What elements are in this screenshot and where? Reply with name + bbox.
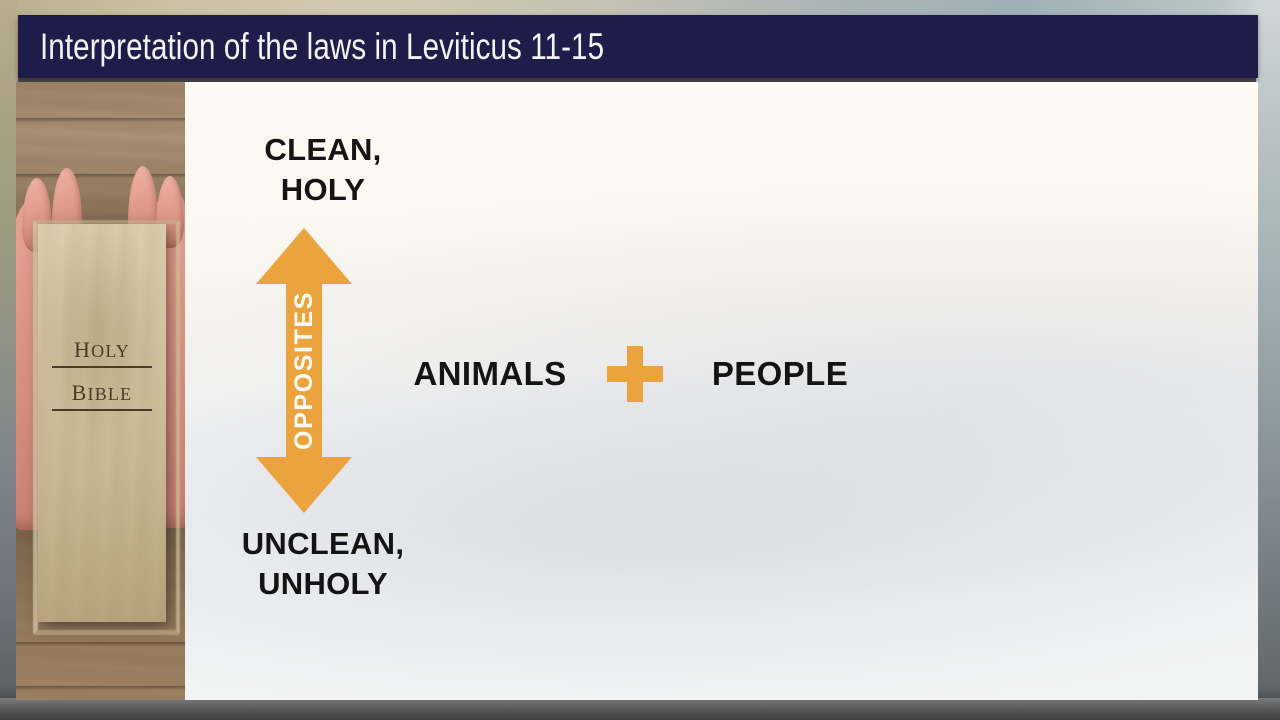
- bible-photo: Holy Bible: [16, 82, 185, 700]
- bible-title-line-1: Holy: [52, 330, 152, 368]
- diagram-area: CLEAN, HOLY OPPOSITES ANIMALS: [185, 82, 1258, 700]
- animals-people-equation: ANIMALS PEOPLE: [385, 336, 885, 412]
- label-unclean-unholy: UNCLEAN, UNHOLY: [193, 524, 453, 605]
- label-clean-holy-line-2: HOLY: [193, 170, 453, 210]
- label-unclean-unholy-line-1: UNCLEAN,: [193, 524, 453, 564]
- slide-root: Interpretation of the laws in Leviticus …: [0, 0, 1280, 720]
- label-unclean-unholy-line-2: UNHOLY: [193, 564, 453, 604]
- slide-title-bar: Interpretation of the laws in Leviticus …: [18, 15, 1258, 78]
- frame-edge-right: [1256, 0, 1280, 720]
- bible-title-line-2: Bible: [52, 373, 152, 411]
- label-clean-holy: CLEAN, HOLY: [193, 130, 453, 211]
- plus-icon: [595, 346, 675, 402]
- double-arrow-vertical-icon: [256, 228, 352, 513]
- term-people: PEOPLE: [675, 355, 885, 393]
- opposites-arrow: OPPOSITES: [256, 228, 352, 513]
- label-clean-holy-line-1: CLEAN,: [193, 130, 453, 170]
- slide-title: Interpretation of the laws in Leviticus …: [40, 26, 604, 68]
- bible-book: Holy Bible: [38, 224, 166, 622]
- term-animals: ANIMALS: [385, 355, 595, 393]
- bible-cover-title: Holy Bible: [38, 330, 166, 416]
- frame-edge-bottom: [0, 698, 1280, 720]
- slide-canvas: Holy Bible CLEAN, HOLY OPPOSITES: [16, 82, 1258, 700]
